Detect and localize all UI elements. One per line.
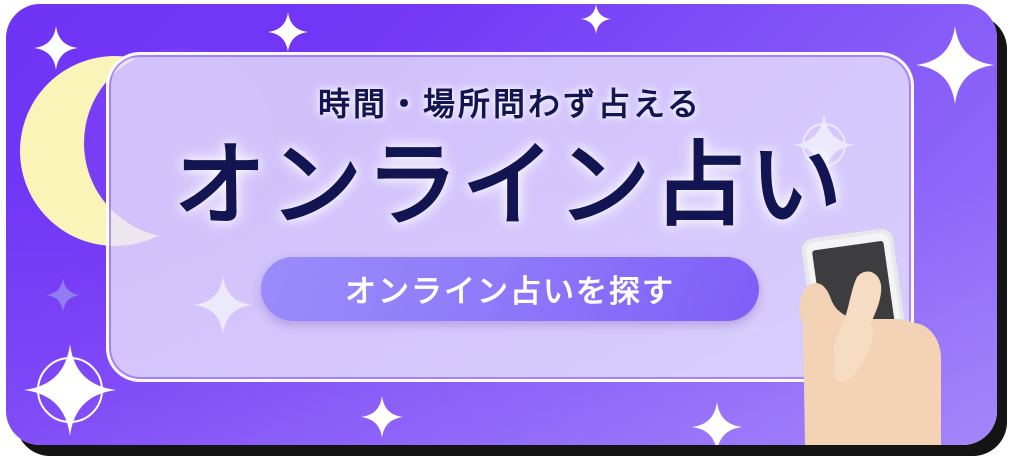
online-fortune-telling-banner: 時間・場所問わず占える オンライン占い オンライン占いを探す — [0, 0, 1011, 456]
four-point-star-icon — [46, 278, 80, 312]
sparkle-bottom-left-icon — [361, 396, 403, 438]
sparkle-top-right-icon — [916, 26, 994, 104]
four-point-star-icon — [692, 402, 742, 445]
four-point-star-icon — [361, 396, 403, 438]
star-ring — [37, 357, 103, 423]
four-point-star-icon — [268, 12, 308, 52]
search-online-fortune-button[interactable]: オンライン占いを探す — [261, 257, 759, 321]
four-point-star-icon — [916, 26, 994, 104]
four-point-star-icon — [581, 4, 611, 34]
sparkle-left-faint-icon — [46, 278, 80, 312]
sparkle-ring-left-icon — [24, 344, 116, 436]
banner-headline: オンライン占い — [174, 138, 846, 235]
search-online-fortune-button-label: オンライン占いを探す — [345, 266, 675, 311]
sparkle-bottom-right-icon — [692, 402, 742, 445]
sparkle-top-center-icon — [268, 12, 308, 52]
four-point-star-icon — [24, 344, 116, 436]
banner-surface: 時間・場所問わず占える オンライン占い オンライン占いを探す — [6, 4, 997, 445]
sparkle-top-mid-right-icon — [581, 4, 611, 34]
banner-content: 時間・場所問わず占える オンライン占い オンライン占いを探す — [106, 52, 914, 382]
banner-subtitle: 時間・場所問わず占える — [318, 88, 702, 120]
